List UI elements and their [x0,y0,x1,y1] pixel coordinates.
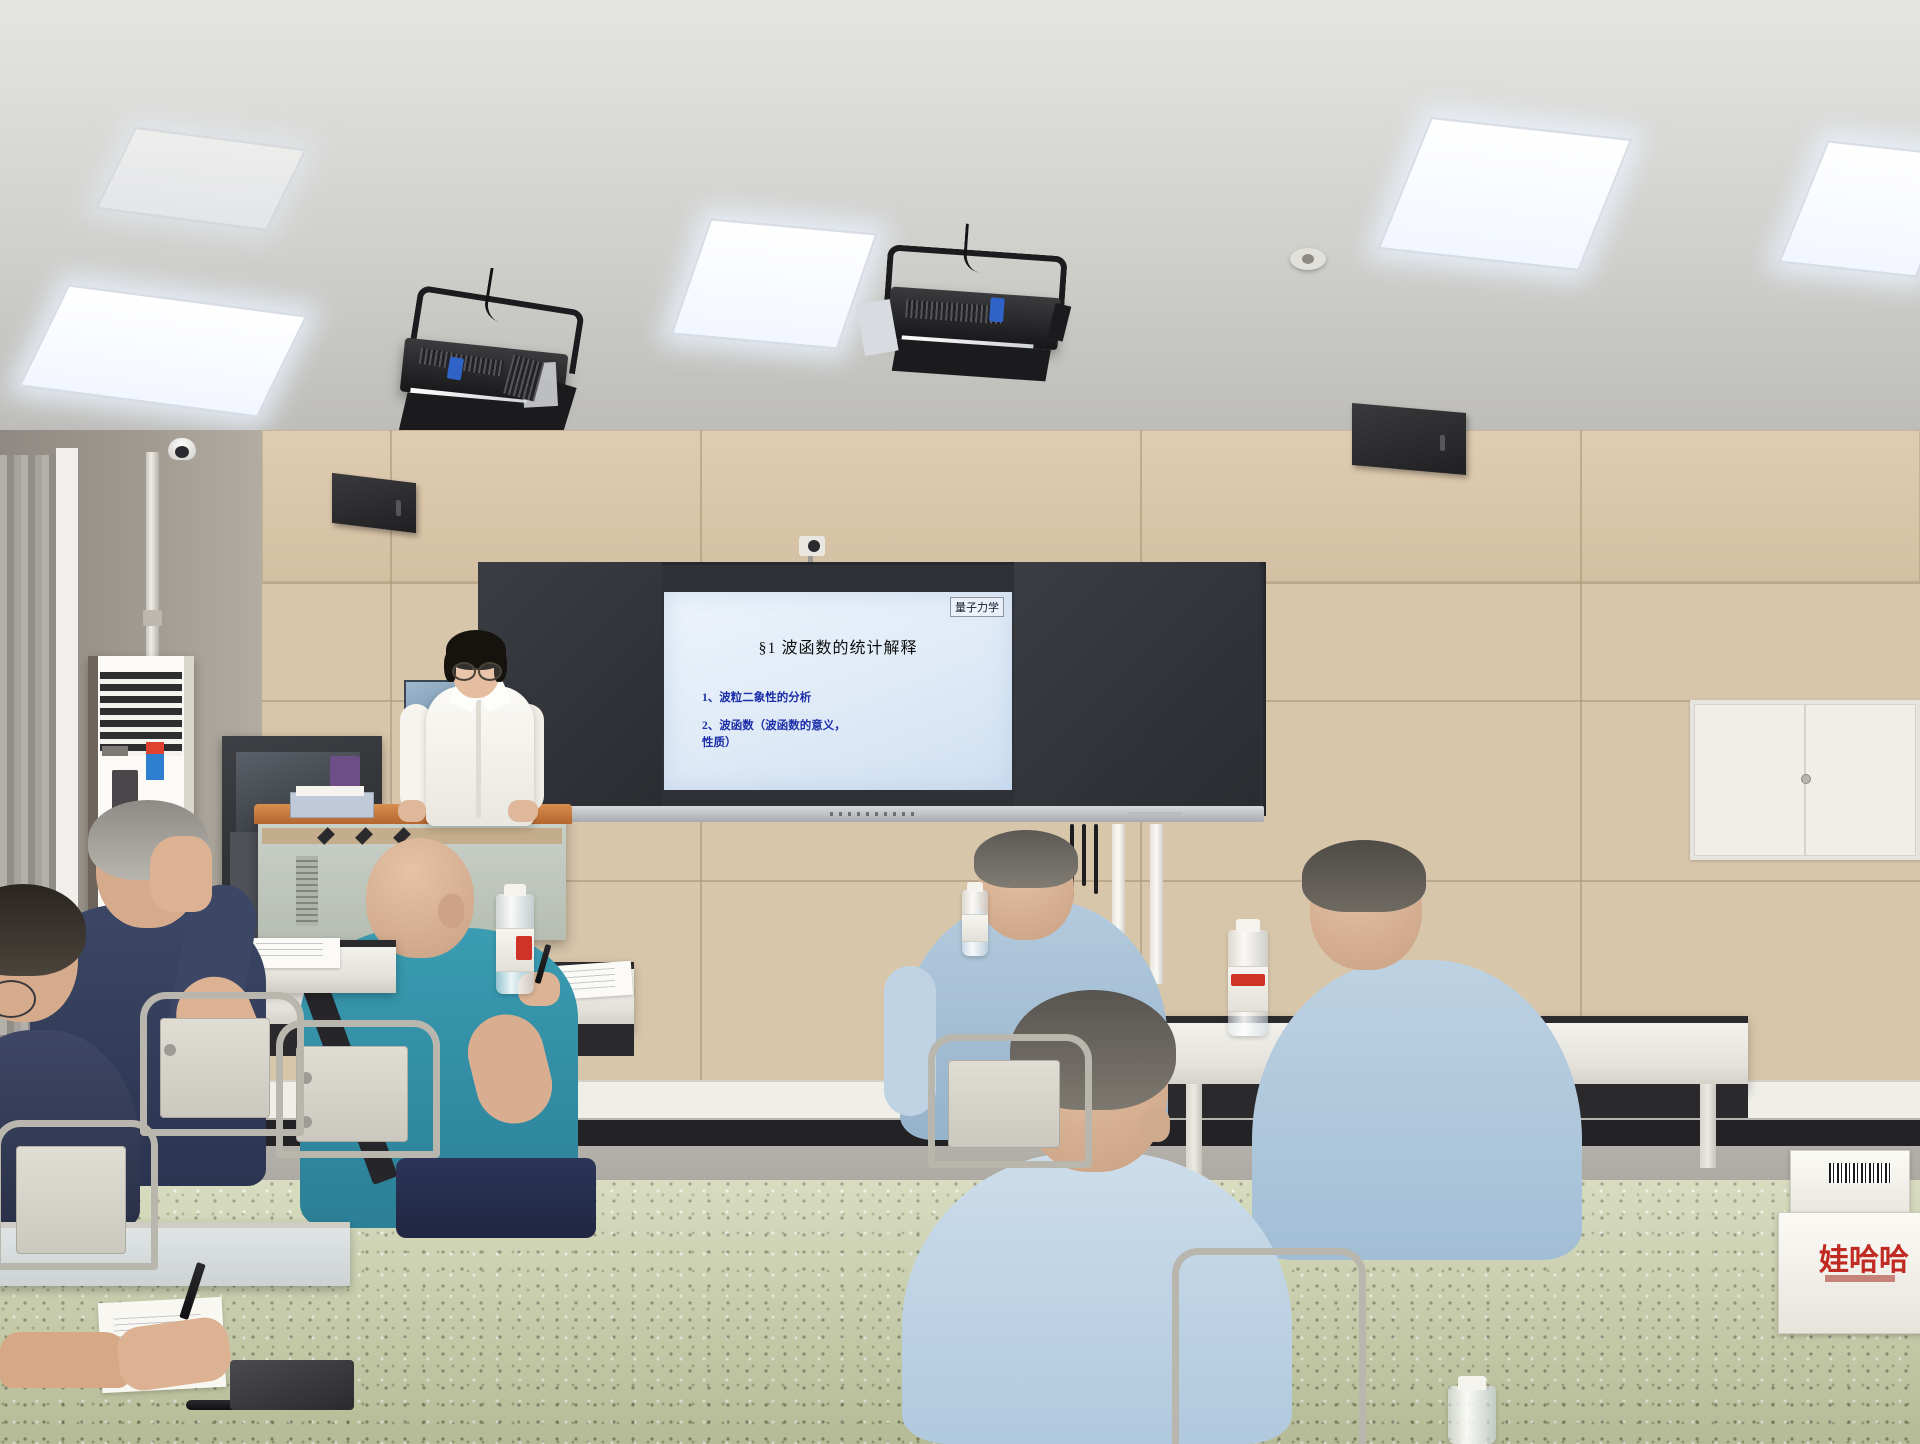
water-bottle [1228,930,1268,1036]
chair-back[interactable] [948,1060,1060,1148]
ceiling-shading [0,0,1920,470]
hand-left [0,1332,130,1388]
smartboard-right-panel [1014,562,1260,810]
water-carton-bottom: 娃哈哈 [1778,1212,1920,1334]
energy-rating-sticker [146,742,164,780]
chair-back[interactable] [16,1146,126,1254]
slide-bullet-3: 性质） [702,735,737,752]
cable-drop [1094,824,1098,894]
pipe-joint [143,610,162,626]
water-bottle [962,890,988,956]
short-hair [974,830,1078,888]
shorts [396,1158,596,1238]
desk-leg [1186,1084,1202,1180]
chair-back[interactable] [296,1046,408,1142]
presenter-hand-right [508,800,538,822]
projection-slide: 量子力学 §1 波函数的统计解释 1、波粒二象性的分析 2、波函数（波函数的意义… [664,592,1012,790]
panel-lock-icon [1801,774,1811,784]
short-hair [1302,840,1426,912]
water-bottle [496,894,534,994]
slide-bullet-2: 2、波函数（波函数的意义， [702,718,846,735]
slide-bullet-1: 1、波粒二象性的分析 [702,690,811,707]
wall-speaker-left [332,473,416,533]
stage-spotlight-right [863,243,1072,393]
shirt-placket [476,700,481,818]
water-brand-logo: 娃哈哈 [1819,1235,1909,1279]
ear [1140,1108,1170,1142]
glasses-lens-right [478,662,502,681]
ac-grille [100,672,182,756]
ear [438,894,464,928]
hand-on-cheek [150,836,212,912]
phone-or-case [230,1360,354,1410]
wall-conduit [1150,824,1163,984]
brand-subtext [1825,1275,1895,1282]
podium-papers [296,786,364,796]
cable-drop [1082,824,1086,886]
dome-camera-icon [168,438,196,460]
stage-spotlight-left [387,283,597,451]
chair-bolt [164,1044,176,1056]
slide-title: §1 波函数的统计解释 [664,634,1012,658]
classroom-photo: 量子力学 §1 波函数的统计解释 1、波粒二象性的分析 2、波函数（波函数的意义… [0,0,1920,1444]
ceiling [0,0,1920,470]
water-bottle [1448,1386,1496,1444]
box-camera-icon [799,536,825,556]
ac-brand-logo [102,746,128,756]
glasses-lens-left [452,662,476,681]
slide-corner-label: 量子力学 [950,597,1004,617]
chair-frame[interactable] [1172,1248,1366,1444]
wall-access-panel[interactable] [1690,700,1920,860]
wall-panel [262,430,1920,582]
presenter-hand-left [398,800,426,822]
smoke-detector-icon [1290,248,1326,270]
chair-back[interactable] [160,1018,270,1118]
podium-vent [296,856,318,926]
glasses-bridge-icon [472,668,478,670]
bezel-label-strip [1128,812,1182,817]
bezel-control-buttons[interactable] [830,812,914,816]
wall-speaker-right [1352,403,1466,475]
desk-leg [1700,1084,1716,1168]
